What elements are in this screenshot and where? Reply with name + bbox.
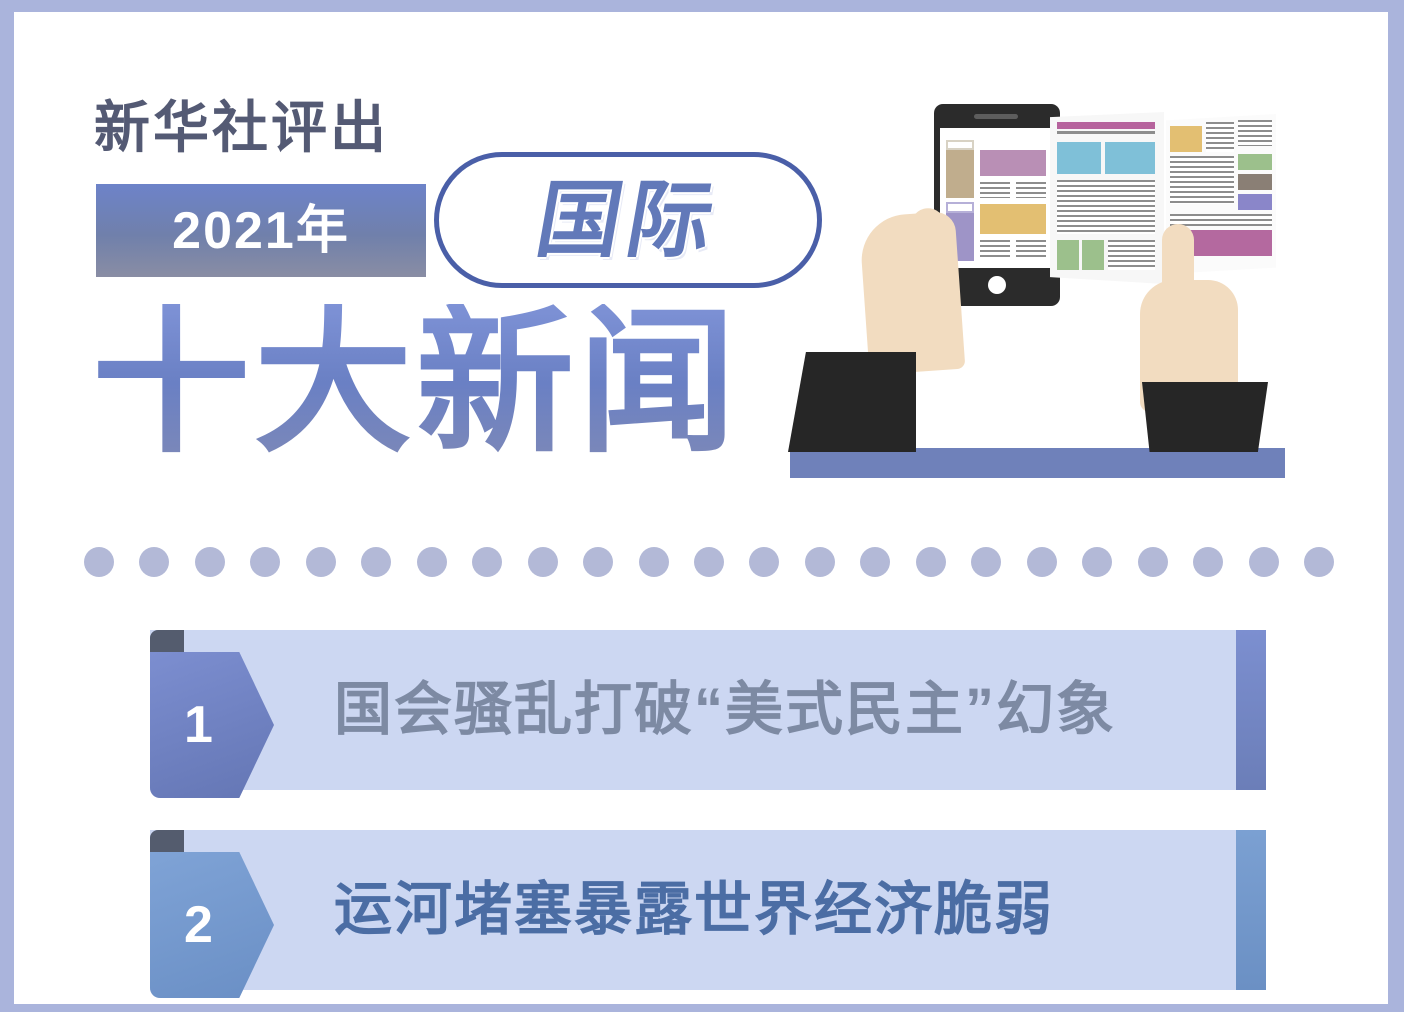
divider-dot [195,547,225,577]
category-pill: 国际 [434,152,822,288]
divider-dot [971,547,1001,577]
news-item-2-number: 2 [184,899,213,951]
divider-dot [1193,547,1223,577]
divider-dot [1249,547,1279,577]
year-band: 2021年 [96,184,426,277]
desk-bar [790,448,1285,478]
kicker-text: 新华社评出 [94,100,389,156]
divider-dot [250,547,280,577]
news-list: 1 国会骚乱打破“美式民主”幻象 2 运河堵塞暴露世界经济脆弱 [14,612,1388,1012]
page-title: 十大新闻 [92,304,740,462]
divider-dot [1138,547,1168,577]
phone-speaker-icon [974,114,1018,119]
divider-dot [84,547,114,577]
divider-dot [417,547,447,577]
right-sleeve [1142,382,1268,452]
poster-page: 新华社评出 2021年 国际 十大新闻 [14,12,1388,1004]
divider-dot [916,547,946,577]
divider-dot [805,547,835,577]
dot-divider [84,543,1334,581]
phone-screen [940,128,1054,268]
left-sleeve [788,352,916,452]
divider-dot [139,547,169,577]
divider-dot [1082,547,1112,577]
divider-dot [860,547,890,577]
poster-header: 新华社评出 2021年 国际 十大新闻 [14,12,1388,522]
divider-dot [639,547,669,577]
divider-dot [472,547,502,577]
news-item-1[interactable]: 1 国会骚乱打破“美式民主”幻象 [14,612,1388,808]
year-label: 2021年 [172,205,350,257]
news-item-2-endcap [1236,830,1266,990]
news-item-2[interactable]: 2 运河堵塞暴露世界经济脆弱 [14,812,1388,1008]
newspaper-page-middle [1050,112,1164,284]
phone-home-button-icon [988,276,1006,294]
divider-dot [306,547,336,577]
divider-dot [1304,547,1334,577]
divider-dot [694,547,724,577]
poster-frame: 新华社评出 2021年 国际 十大新闻 [0,0,1404,1004]
hands-reading-news-illustration [850,84,1370,504]
divider-dot [583,547,613,577]
news-item-1-number: 1 [184,699,213,751]
news-item-1-title: 国会骚乱打破“美式民主”幻象 [334,630,1234,790]
category-label: 国际 [531,178,726,262]
news-item-2-title: 运河堵塞暴露世界经济脆弱 [334,830,1234,990]
divider-dot [528,547,558,577]
divider-dot [1027,547,1057,577]
divider-dot [361,547,391,577]
news-item-1-endcap [1236,630,1266,790]
divider-dot [749,547,779,577]
